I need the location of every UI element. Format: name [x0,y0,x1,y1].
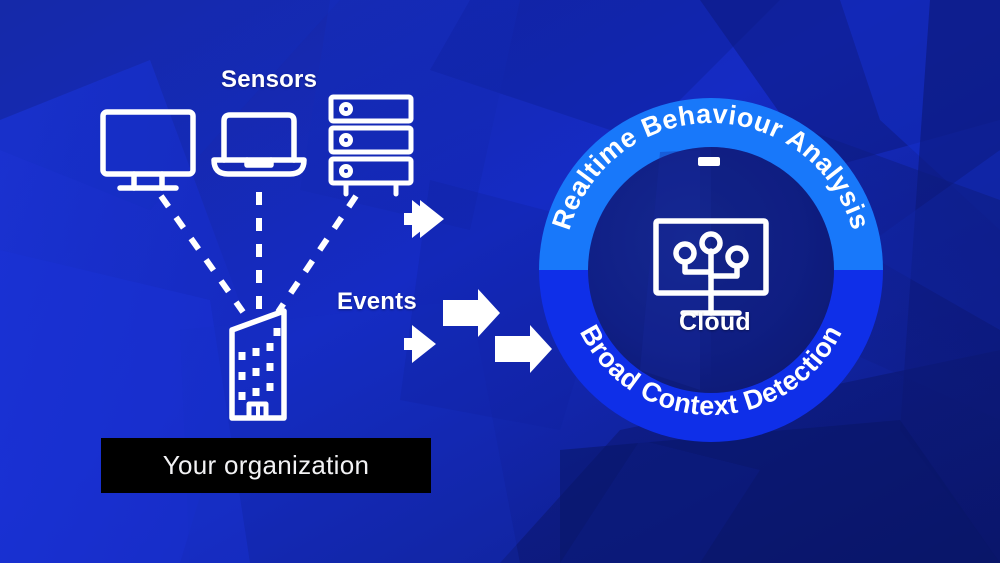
cloud-label: Cloud [679,308,751,337]
organization-banner: Your organization [101,438,431,493]
ring-notch-mark [698,157,720,166]
diagram-canvas: Realtime Behaviour Analysis Broad Contex… [0,0,1000,563]
events-label: Events [337,288,417,316]
sensors-label: Sensors [221,66,317,94]
organization-banner-label: Your organization [163,450,370,481]
